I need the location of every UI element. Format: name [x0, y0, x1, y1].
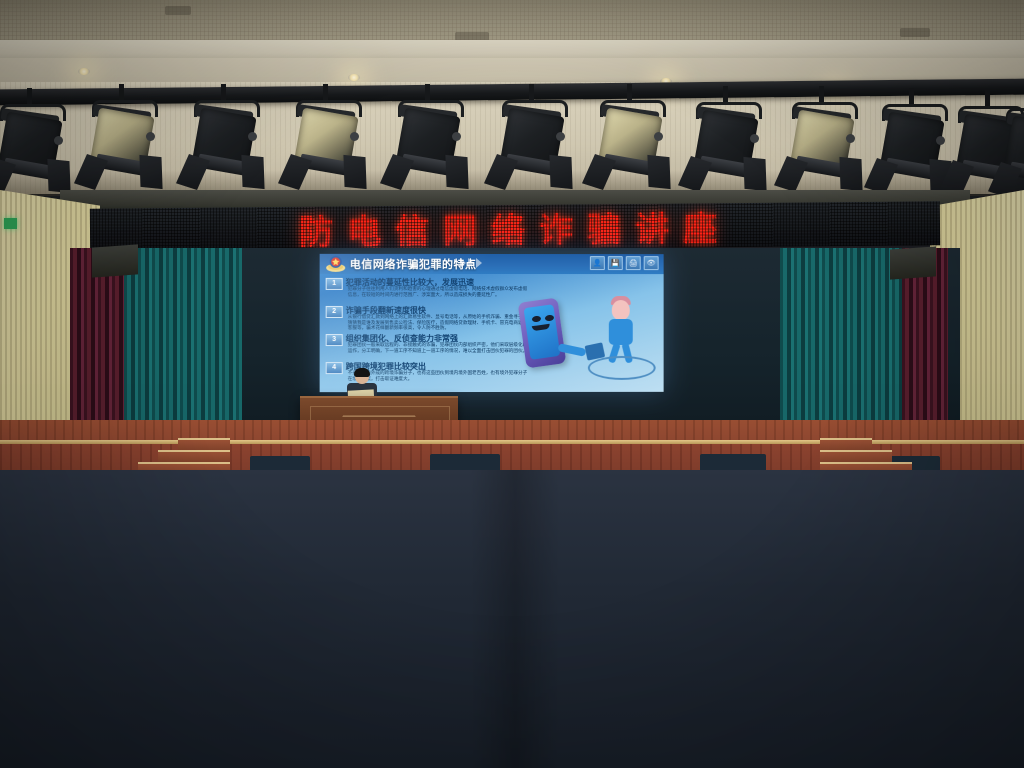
spotlight-barndoor-right	[743, 157, 766, 191]
slide-illustration	[516, 294, 656, 382]
print-icon[interactable]: 🖨	[626, 256, 641, 270]
auditorium-photo: 防电信网络诈骗讲座 电信网络诈骗犯罪的特点 👤 💾	[0, 0, 1024, 768]
police-emblem-icon	[326, 255, 346, 273]
slide-bullet-number: 2	[326, 306, 343, 318]
stage-spotlight-12	[1000, 100, 1024, 196]
stage-spotlight-9	[786, 94, 860, 190]
spotlight-barndoor-right	[139, 155, 162, 189]
spotlight-knob	[452, 132, 461, 141]
spotlight-knob	[248, 132, 257, 141]
stage-speaker-left	[92, 244, 138, 277]
curtain-teal-left	[124, 248, 242, 424]
man-head	[612, 300, 630, 320]
slide-bullet-body: 从银行借贷汇款到网络上的汇款易生软件、显号电话等，从原始的手机诈骗、重金寻子、猜…	[348, 315, 528, 332]
spotlight-knob	[350, 132, 359, 141]
spotlight-barndoor-right	[549, 155, 572, 189]
view-icon[interactable]: 👁	[644, 256, 659, 270]
spotlight-barndoor-right	[445, 155, 468, 189]
audience-seating-area	[0, 470, 1024, 768]
spotlight-barndoor-right	[839, 157, 862, 191]
stage-spotlight-6	[496, 92, 570, 188]
spotlight-knob	[846, 134, 855, 143]
stage-spotlight-2	[86, 92, 160, 188]
chevron-right-icon	[460, 258, 482, 268]
stage-spotlight-5	[392, 92, 466, 188]
stage-spotlight-4	[290, 92, 364, 188]
ceiling-acoustic-panel	[0, 0, 1024, 44]
spotlight-barndoor-right	[47, 159, 70, 193]
ceiling-downlight-1	[78, 68, 90, 75]
presenter-hair	[354, 368, 370, 377]
spotlight-knob	[654, 132, 663, 141]
curtain-teal-right	[780, 248, 902, 424]
stage-spotlight-10	[876, 96, 950, 192]
slide-title-bar: 电信网络诈骗犯罪的特点 👤 💾 🖨 👁	[320, 254, 664, 274]
spotlight-knob	[556, 132, 565, 141]
stage-spotlight-8	[690, 94, 764, 190]
slide-bullet-number: 3	[326, 334, 343, 346]
slide-bullet-number: 1	[326, 278, 343, 290]
person-icon[interactable]: 👤	[590, 256, 605, 270]
slide-toolbar-icons[interactable]: 👤 💾 🖨 👁	[590, 256, 659, 270]
spotlight-barndoor-left	[0, 158, 16, 194]
stage-speaker-right	[890, 246, 936, 279]
stage-spotlight-1	[0, 96, 68, 192]
stage-spotlight-3	[188, 92, 262, 188]
save-icon[interactable]: 💾	[608, 256, 623, 270]
led-banner-text: 防电信网络诈骗讲座	[299, 201, 731, 252]
spotlight-knob	[54, 136, 63, 145]
led-banner: 防电信网络诈骗讲座	[90, 201, 940, 252]
exit-indicator-light	[4, 218, 17, 229]
ceiling-vent	[165, 6, 191, 15]
slide-bullet-body: 犯罪分子往往利用人们贪利和趋害的心理通过电信虚假电话、网络技术虚假群众发布虚假信…	[348, 287, 528, 298]
slide-title: 电信网络诈骗犯罪的特点	[350, 256, 477, 272]
slide-bullet-number: 4	[326, 362, 343, 374]
slide-bullet-body: 犯罪团伙一般采取远程的、非接触式的诈骗，犯罪团伙内部组织严密，他们采取层级化的运…	[348, 343, 528, 354]
ground-ellipse	[588, 356, 656, 380]
spotlight-barndoor-right	[241, 155, 264, 189]
man-body	[609, 319, 633, 345]
spotlight-barndoor-right	[343, 155, 366, 189]
stage-spotlight-7	[594, 92, 668, 188]
spotlight-knob	[750, 134, 759, 143]
ceiling-downlight-2	[348, 74, 360, 81]
spotlight-knob	[936, 136, 945, 145]
ceiling-vent	[900, 28, 930, 37]
spotlight-knob	[146, 132, 155, 141]
spotlight-barndoor-right	[647, 155, 670, 189]
